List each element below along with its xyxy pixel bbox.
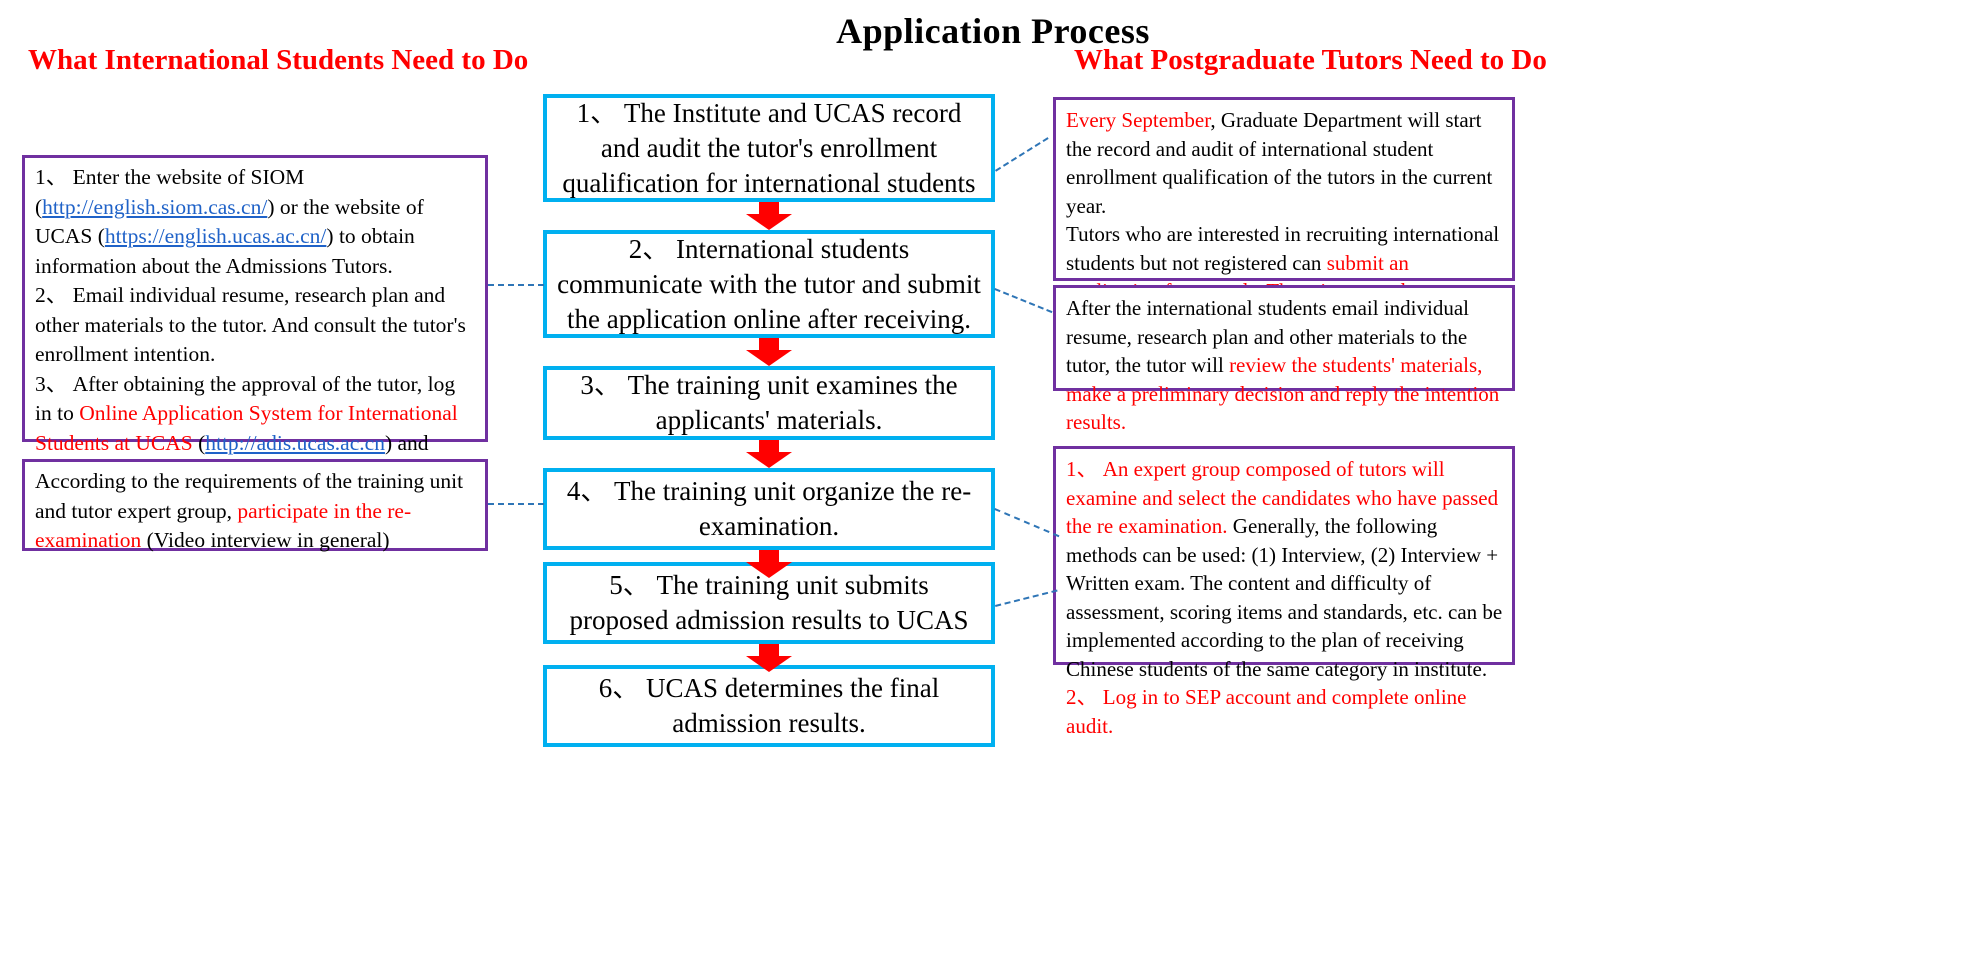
- tutor-note-3: 1、 An expert group composed of tutors wi…: [1053, 446, 1515, 665]
- down-arrow-icon-4: [746, 550, 792, 578]
- flow-step-4[interactable]: 4、 The training unit organize the re-exa…: [543, 468, 995, 550]
- left-column-heading: What International Students Need to Do: [28, 44, 528, 77]
- student-note-1: 1、 Enter the website of SIOM (http://eng…: [22, 155, 488, 442]
- down-arrow-icon-3: [746, 440, 792, 468]
- hyperlink[interactable]: http://adis.ucas.ac.cn: [205, 431, 385, 455]
- connector-box4-student-note-2: [488, 503, 544, 505]
- diagram-canvas: Application Process What International S…: [0, 0, 1986, 978]
- hyperlink[interactable]: https://english.ucas.ac.cn/: [105, 224, 327, 248]
- flow-step-6[interactable]: 6、 UCAS determines the final admission r…: [543, 665, 995, 747]
- connector-box2-tutor-note-2: [994, 288, 1052, 313]
- down-arrow-icon-5: [746, 644, 792, 672]
- down-arrow-icon-2: [746, 338, 792, 366]
- student-note-2: According to the requirements of the tra…: [22, 459, 488, 551]
- flow-step-2[interactable]: 2、 International students communicate wi…: [543, 230, 995, 338]
- down-arrow-icon-1: [746, 202, 792, 230]
- hyperlink[interactable]: http://english.siom.cas.cn/: [42, 195, 267, 219]
- right-column-heading: What Postgraduate Tutors Need to Do: [1074, 44, 1547, 77]
- connector-box1-tutor-note-1: [995, 137, 1049, 172]
- flow-step-3[interactable]: 3、 The training unit examines the applic…: [543, 366, 995, 440]
- tutor-note-2: After the international students email i…: [1053, 285, 1515, 391]
- connector-box4-tutor-note-3: [994, 508, 1059, 537]
- connector-box5-tutor-note-3: [995, 590, 1058, 607]
- flow-step-1[interactable]: 1、 The Institute and UCAS record and aud…: [543, 94, 995, 202]
- connector-box2-student-note-1: [488, 284, 544, 286]
- tutor-note-1: Every September, Graduate Department wil…: [1053, 97, 1515, 281]
